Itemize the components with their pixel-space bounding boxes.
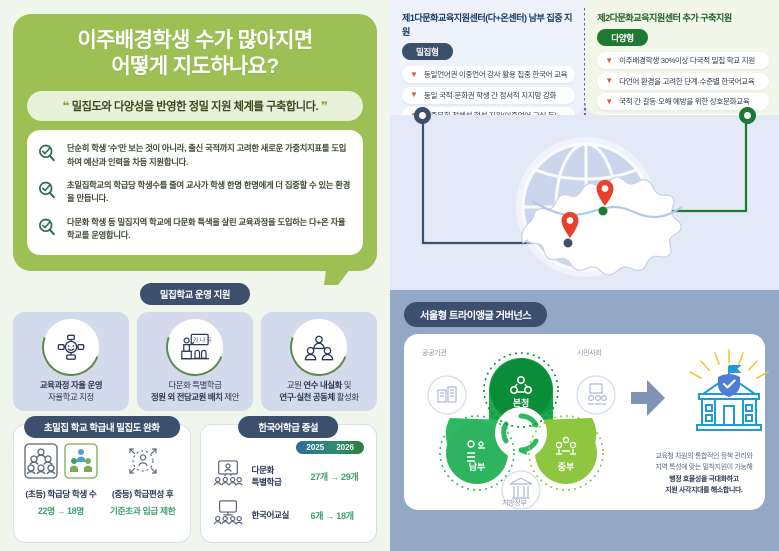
list-item-label: 다언어 환경을 고려한 단계·수준별 한국어교육	[619, 76, 754, 87]
governance-pill-wrap: 서울형 트라이앵글 거버넌스	[404, 302, 765, 327]
legend-bar: 2025 2026	[296, 441, 364, 454]
ops-line1-a: 교원	[287, 380, 304, 390]
center1-box: 제1다문화교육지원센터(다+온센터) 남부 집중 지원 밀집형 ▼ 동일언어권 …	[390, 0, 585, 115]
operations-section: 밀집학교 운영 지원	[13, 283, 377, 411]
chevron-down-icon: ▼	[605, 77, 613, 85]
density-items: (초등) 학급당 학생 수 22명 → 18명	[20, 441, 184, 517]
triangle-diagram: 본청 남부 중부	[414, 340, 629, 504]
result-line-1: 교육청 차원의 통합적인 정책 관리와	[655, 453, 752, 460]
governance-result-text: 교육청 차원의 통합적인 정책 관리와 지역 특성에 맞는 밀착지원이 가능해 …	[629, 451, 779, 495]
list-item: ▼ 이주배경학생 30%이상 다국적 밀집 학교 지원	[597, 52, 769, 69]
korean-class-box: 한국어학급 증설 2025 2026	[200, 424, 378, 543]
governance-pill: 서울형 트라이앵글 거버넌스	[404, 302, 547, 327]
row-name-line2: 특별학급	[252, 477, 282, 487]
centers-strip: 제1다문화교육지원센터(다+온센터) 남부 집중 지원 밀집형 ▼ 동일언어권 …	[390, 0, 779, 115]
center1-tag: 밀집형	[402, 43, 453, 60]
center1-title: 제1다문화교육지원센터(다+온센터) 남부 집중 지원	[402, 10, 575, 38]
korean-class-pill: 한국어학급 증설	[238, 416, 338, 438]
teacher-community-icon	[293, 321, 345, 373]
svg-text:중부: 중부	[558, 462, 575, 473]
chevron-down-icon: ▼	[605, 98, 613, 106]
row-name-line1: 다문화	[252, 465, 275, 475]
ops-line2-a: 연구·실천 공동체	[279, 392, 334, 402]
ops-card-line1: 교육과정 자율 운영	[17, 379, 125, 391]
bullet-text: 단순히 학생 '수'만 보는 것이 아니라, 출신 국적까지 고려한 새로운 가…	[67, 142, 351, 169]
governance-card: 본청 남부 중부	[404, 334, 765, 510]
map-pin-icon	[595, 179, 615, 207]
ops-line2-b: 활성화	[335, 392, 359, 402]
infographic-page: 이주배경학생 수가 많아지면 어떻게 지도하나요? ❝ 밀집도와 다양성을 반영…	[0, 0, 779, 551]
korean-class-name: 다문화 특별학급	[252, 465, 304, 488]
class-size-icon	[20, 441, 102, 481]
hero-title-line1: 이주배경학생 수가 많아지면	[77, 29, 312, 52]
list-item-label: 이주배경학생 30%이상 다국적 밀집 학교 지원	[619, 55, 755, 66]
multicultural-class-icon	[213, 460, 245, 493]
ops-card-line2: 정원 외 전담교원 배치 제안	[141, 391, 249, 403]
ops-card-line2: 자율학교 지정	[17, 391, 125, 403]
left-panel: 이주배경학생 수가 많아지면 어떻게 지도하나요? ❝ 밀집도와 다양성을 반영…	[0, 0, 390, 551]
ops-card-line2: 연구·실천 공동체 활성화	[265, 391, 373, 403]
list-item-label: 국적 간 갈등·오해 예방을 위한 상호문화교육	[619, 96, 749, 107]
hero-quote: ❝ 밀집도와 다양성을 반영한 정밀 지원 체계를 구축합니다. ❞	[27, 91, 363, 121]
ops-card-special-class[interactable]: 가 나 다 다문화 특별학급 정원 외 전담교원 배치 제안	[137, 312, 253, 411]
bullet-text: 다문화 학생 등 밀집지역 학교에 다문화 특색을 살린 교육과정을 도입하는 …	[67, 216, 351, 243]
check-magnifier-icon	[37, 217, 59, 242]
map-pin-south[interactable]	[560, 211, 580, 244]
triangle-governance-svg: 본청 남부 중부	[414, 340, 629, 510]
ops-card-line2-bold: 정원 외 전담교원 배치	[151, 392, 223, 402]
korean-class-value: 27개 → 29개	[311, 470, 359, 483]
hero-title-line2: 어떻게 지도하나요?	[111, 55, 278, 78]
check-magnifier-icon	[37, 143, 59, 168]
government-building-icon	[629, 348, 779, 448]
legend-year-from: 2025	[306, 443, 324, 452]
bottom-stats-row: 초밀집 학교 학급내 밀집도 완화	[13, 424, 377, 543]
operations-pill: 밀집학교 운영 지원	[140, 283, 250, 305]
density-pill: 초밀집 학교 학급내 밀집도 완화	[24, 416, 180, 438]
density-value: 기준초과 입급 제한	[102, 504, 184, 517]
list-item: ▼ 동일 국적·문화권 학생 간 정서적 지지망 강화	[402, 87, 575, 104]
chevron-down-icon: ▼	[605, 57, 613, 65]
density-label: (초등) 학급당 학생 수	[20, 488, 102, 500]
right-panel: 제1다문화교육지원센터(다+온센터) 남부 집중 지원 밀집형 ▼ 동일언어권 …	[390, 0, 779, 551]
ops-card-line1: 다문화 특별학급	[141, 379, 249, 391]
bullet-text: 초일집학교의 학급당 학생수를 줄여 교사가 학생 한명 한명에게 더 집중할 …	[67, 179, 351, 206]
ops-card-line1: 교원 연수 내실화 및	[265, 379, 373, 391]
map-pin-north[interactable]	[595, 179, 615, 212]
list-item: ▼ 다언어 환경을 고려한 단계·수준별 한국어교육	[597, 73, 769, 90]
density-value: 22명 → 18명	[20, 504, 102, 517]
governance-outcome: 교육청 차원의 통합적인 정책 관리와 지역 특성에 맞는 밀착지원이 가능해 …	[629, 348, 779, 495]
connector-node-green	[739, 107, 756, 124]
quote-open-icon: ❝	[62, 99, 69, 113]
density-item-elementary: (초등) 학급당 학생 수 22명 → 18명	[20, 441, 102, 517]
list-item: ▼ 동일언어권 이중언어 강사 활용 집중 한국어 교육	[402, 66, 575, 83]
list-item: 단순히 학생 '수'만 보는 것이 아니라, 출신 국적까지 고려한 새로운 가…	[37, 142, 351, 169]
hero-card: 이주배경학생 수가 많아지면 어떻게 지도하나요? ❝ 밀집도와 다양성을 반영…	[13, 14, 377, 271]
list-item: 초일집학교의 학급당 학생수를 줄여 교사가 학생 한명 한명에게 더 집중할 …	[37, 179, 351, 206]
legend-year-to: 2026	[336, 443, 354, 452]
svg-text:가 나 다: 가 나 다	[193, 336, 211, 344]
center2-box: 제2다문화교육지원센터 추가 구축지원 다양형 ▼ 이주배경학생 30%이상 다…	[585, 0, 779, 115]
chevron-down-icon: ▼	[410, 71, 418, 79]
svg-text:본청: 본청	[513, 397, 530, 409]
chevron-down-icon: ▼	[410, 91, 418, 99]
curriculum-icon	[45, 321, 97, 373]
satellite-label-public: 공공기관	[422, 348, 447, 358]
classroom-teacher-icon: 가 나 다	[169, 321, 221, 373]
ops-line1-b: 연수 내실화	[303, 380, 341, 390]
ops-card-teacher-community[interactable]: 교원 연수 내실화 및 연구·실천 공동체 활성화	[261, 312, 377, 411]
result-bold-1: 행정 효율성을 극대화하고	[669, 476, 739, 483]
result-line-2: 지역 특성에 맞는 밀착지원이 가능해	[655, 464, 752, 471]
center2-tag: 다양형	[597, 29, 648, 46]
connector-node-blue	[414, 107, 431, 124]
hero-quote-text: 밀집도와 다양성을 반영한 정밀 지원 체계를 구축합니다.	[72, 101, 319, 113]
year-legend: 2025 2026	[207, 441, 371, 454]
table-row: 다문화 특별학급 27개 → 29개	[207, 460, 371, 493]
center2-title: 제2다문화교육지원센터 추가 구축지원	[597, 10, 769, 24]
korean-class-value: 6개 → 18개	[311, 509, 354, 522]
map-area	[390, 115, 779, 290]
operations-cards: 교육과정 자율 운영 자율학교 지정 가 나 다	[13, 312, 377, 411]
svg-text:남부: 남부	[469, 461, 486, 473]
operations-pill-wrap: 밀집학교 운영 지원	[13, 283, 377, 305]
map-pin-icon	[560, 211, 580, 239]
governance-section: 서울형 트라이앵글 거버넌스	[390, 290, 779, 551]
ops-line1-c: 및	[342, 380, 351, 390]
list-item-label: 동일 국적·문화권 학생 간 정서적 지지망 강화	[424, 90, 556, 101]
table-row: 한국어교실 6개 → 18개	[207, 499, 371, 532]
satellite-label-local: 지방정부	[502, 498, 527, 508]
map-svg	[390, 115, 779, 290]
ops-card-curriculum[interactable]: 교육과정 자율 운영 자율학교 지정	[13, 312, 129, 411]
class-spread-icon	[102, 441, 184, 481]
density-item-middle: (중등) 학급편성 후 기준초과 입급 제한	[102, 441, 184, 517]
result-bold-2: 지원 사각지대를 해소합니다.	[665, 487, 742, 494]
list-item: 다문화 학생 등 밀집지역 학교에 다문화 특색을 살린 교육과정을 도입하는 …	[37, 216, 351, 243]
ops-card-line2-rest: 제안	[222, 392, 239, 402]
quote-close-icon: ❞	[321, 99, 328, 113]
list-item-label: 동일언어권 이중언어 강사 활용 집중 한국어 교육	[424, 69, 567, 80]
korean-class-name: 한국어교실	[252, 510, 304, 522]
korean-class-icon	[213, 499, 245, 532]
check-magnifier-icon	[37, 180, 59, 205]
satellite-label-civil: 시민사회	[577, 348, 602, 358]
hero-bullet-card: 단순히 학생 '수'만 보는 것이 아니라, 출신 국적까지 고려한 새로운 가…	[27, 130, 363, 255]
density-label: (중등) 학급편성 후	[102, 488, 184, 500]
page-title: 이주배경학생 수가 많아지면 어떻게 지도하나요?	[27, 28, 363, 80]
density-box: 초밀집 학교 학급내 밀집도 완화	[13, 424, 191, 543]
